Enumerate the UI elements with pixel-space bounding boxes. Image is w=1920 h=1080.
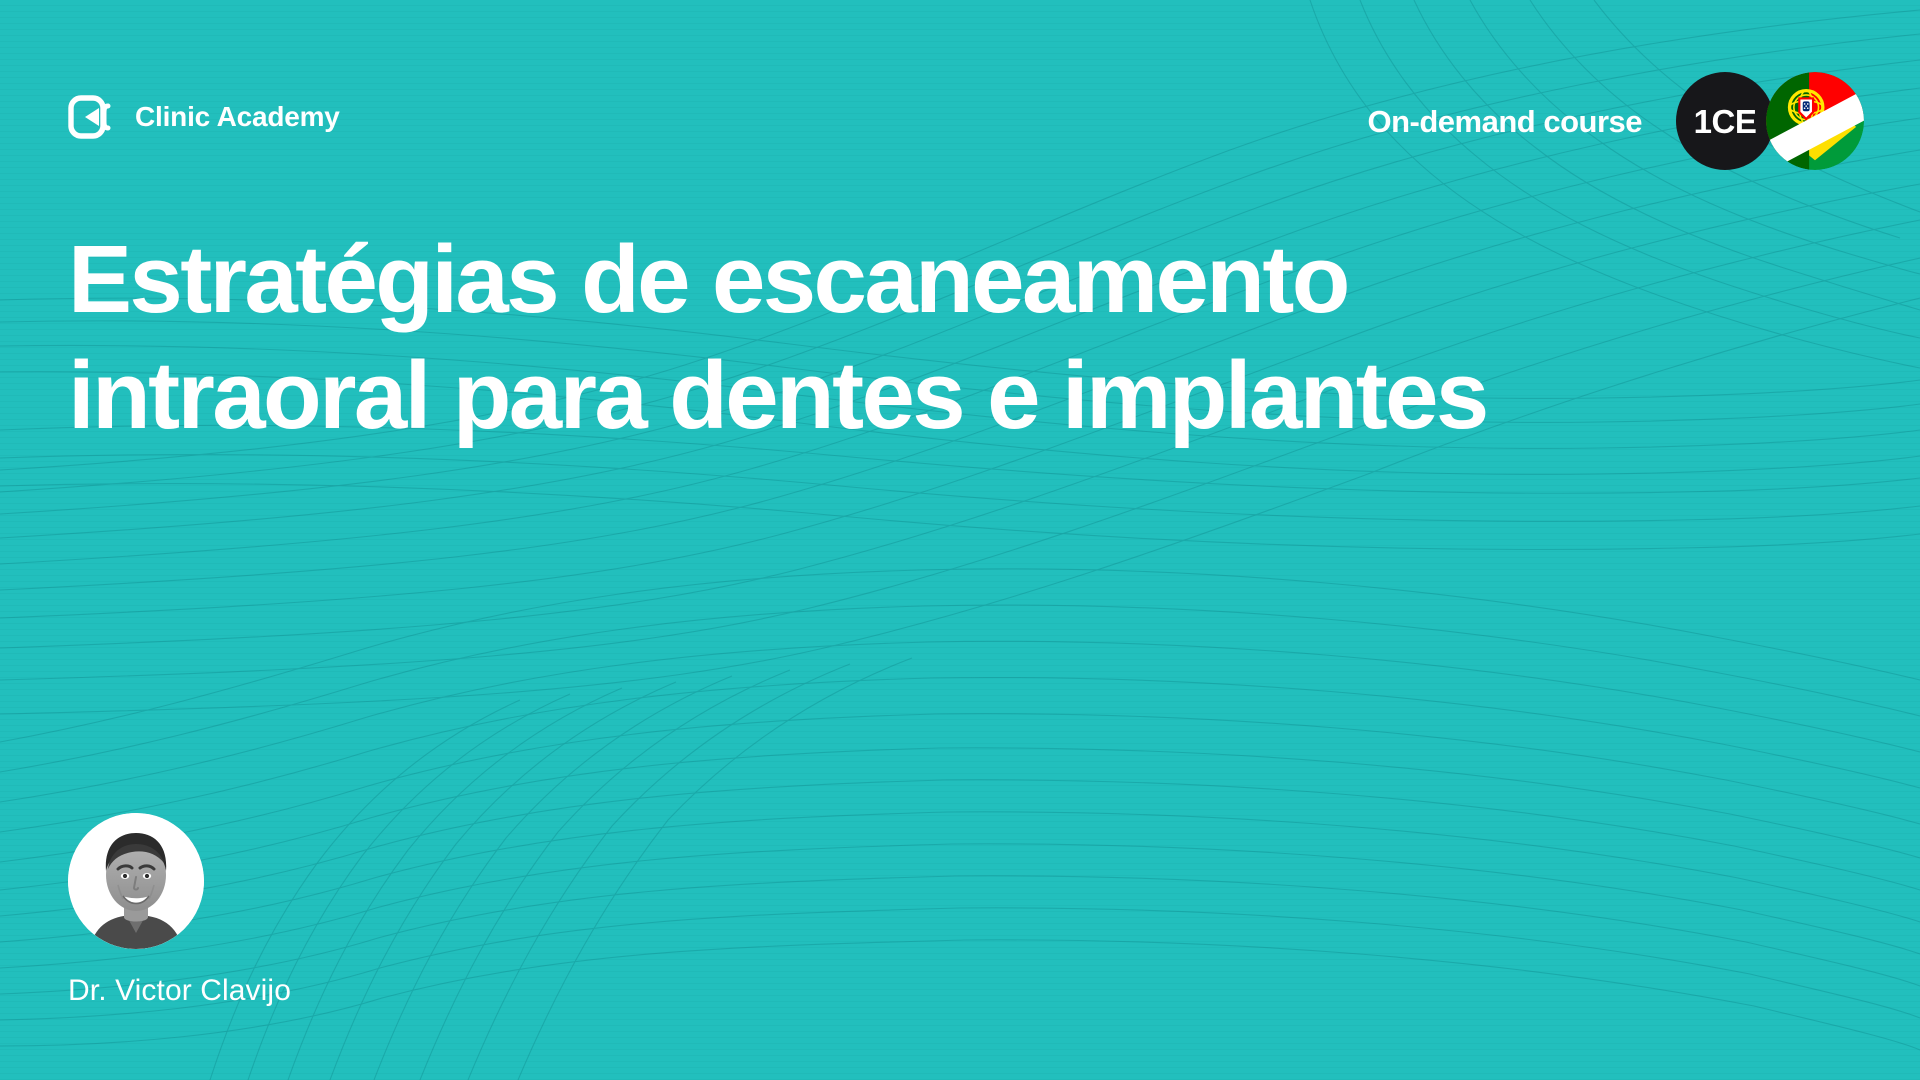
presenter-block: Dr. Victor Clavijo [68, 813, 291, 1008]
ce-credit-badge: 1CE [1676, 72, 1774, 170]
slide-title: Estratégias de escaneamento intraoral pa… [68, 232, 1868, 444]
course-title-slide: Clinic Academy On-demand course 1CE [0, 0, 1920, 1080]
brand-name-label: Clinic Academy [135, 101, 340, 133]
ce-credit-badge-label: 1CE [1694, 105, 1757, 138]
presenter-avatar [68, 813, 204, 949]
title-line-1: Estratégias de escaneamento [68, 232, 1868, 328]
header-meta-group: On-demand course 1CE [1368, 72, 1865, 170]
title-line-2: intraoral para dentes e implantes [68, 348, 1868, 444]
course-type-label: On-demand course [1368, 106, 1643, 137]
brand-logo: Clinic Academy [68, 93, 340, 141]
video-camera-icon [68, 93, 118, 141]
slide-header: Clinic Academy On-demand course 1CE [0, 0, 1920, 200]
portugal-brazil-flag-icon [1766, 72, 1864, 170]
presenter-name-label: Dr. Victor Clavijo [68, 974, 291, 1008]
